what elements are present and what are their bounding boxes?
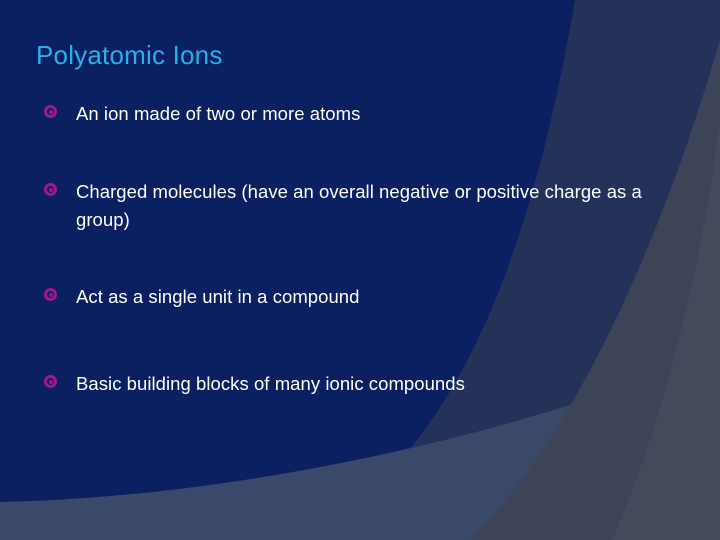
list-item: Act as a single unit in a compound: [44, 283, 644, 311]
target-ring-icon: [44, 183, 57, 196]
list-item-label: Basic building blocks of many ionic comp…: [76, 370, 644, 398]
list-item-label: Act as a single unit in a compound: [76, 283, 644, 311]
target-ring-icon: [44, 375, 57, 388]
presentation-slide: Polyatomic Ions An ion made of two or mo…: [0, 0, 720, 540]
slide-content: Polyatomic Ions An ion made of two or mo…: [0, 0, 720, 540]
list-item: An ion made of two or more atoms: [44, 100, 644, 128]
list-item-label: An ion made of two or more atoms: [76, 100, 644, 128]
list-item-label: Charged molecules (have an overall negat…: [76, 178, 644, 234]
list-item: Charged molecules (have an overall negat…: [44, 178, 644, 234]
list-item: Basic building blocks of many ionic comp…: [44, 370, 644, 398]
target-ring-icon: [44, 105, 57, 118]
page-title: Polyatomic Ions: [36, 40, 223, 71]
target-ring-icon: [44, 288, 57, 301]
